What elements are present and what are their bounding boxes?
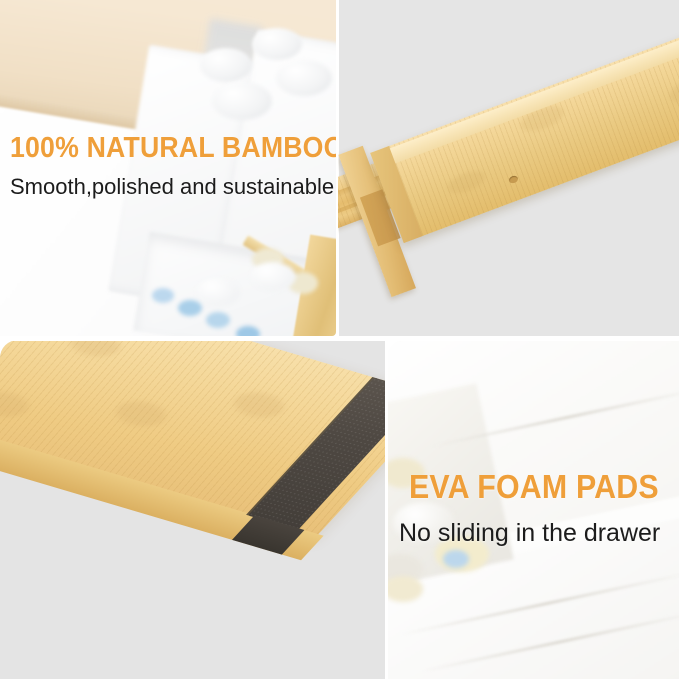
headline-natural-bamboo: 100% NATURAL BAMBOO <box>10 134 336 163</box>
organizer-contents-item <box>206 312 230 328</box>
subline-natural-bamboo: Smooth,polished and sustainable <box>10 175 334 198</box>
headline-eva-foam-pads: EVA FOAM PADS <box>409 470 659 503</box>
panel-natural-bamboo: 100% NATURAL BAMBOO Smooth,polished and … <box>0 0 336 336</box>
organizer-contents-item <box>252 28 302 60</box>
infographic-canvas: 100% NATURAL BAMBOO Smooth,polished and … <box>0 0 679 679</box>
drawer-contents-item <box>443 550 469 568</box>
organizer-contents-item <box>196 278 240 306</box>
organizer-contents-item <box>236 326 260 336</box>
bamboo-node-mark <box>445 167 489 198</box>
panel-divider-vertical-bottom <box>385 340 388 679</box>
bamboo-node-mark <box>108 396 174 431</box>
bamboo-node-mark <box>63 340 129 361</box>
panel-foam-pad-plank <box>0 340 386 679</box>
panel-divider-vertical-top <box>336 0 338 336</box>
panel-divider-rod <box>337 0 679 336</box>
panel-divider-horizontal <box>0 336 679 341</box>
organizer-contents-item <box>276 60 332 96</box>
bamboo-node-mark <box>0 387 36 422</box>
organizer-contents-item <box>212 82 272 120</box>
bamboo-node-mark <box>666 69 679 108</box>
panel-eva-foam-pads: EVA FOAM PADS No sliding in the drawer <box>387 340 679 679</box>
bamboo-node-mark <box>226 387 292 422</box>
main-bamboo-slat <box>370 2 679 243</box>
subline-eva-foam-pads: No sliding in the drawer <box>399 520 660 546</box>
organizer-contents-item <box>200 48 252 82</box>
organizer-contents-item <box>152 288 174 303</box>
organizer-contents-item <box>250 262 296 291</box>
bamboo-plank <box>0 340 386 621</box>
organizer-contents-item <box>178 300 202 316</box>
